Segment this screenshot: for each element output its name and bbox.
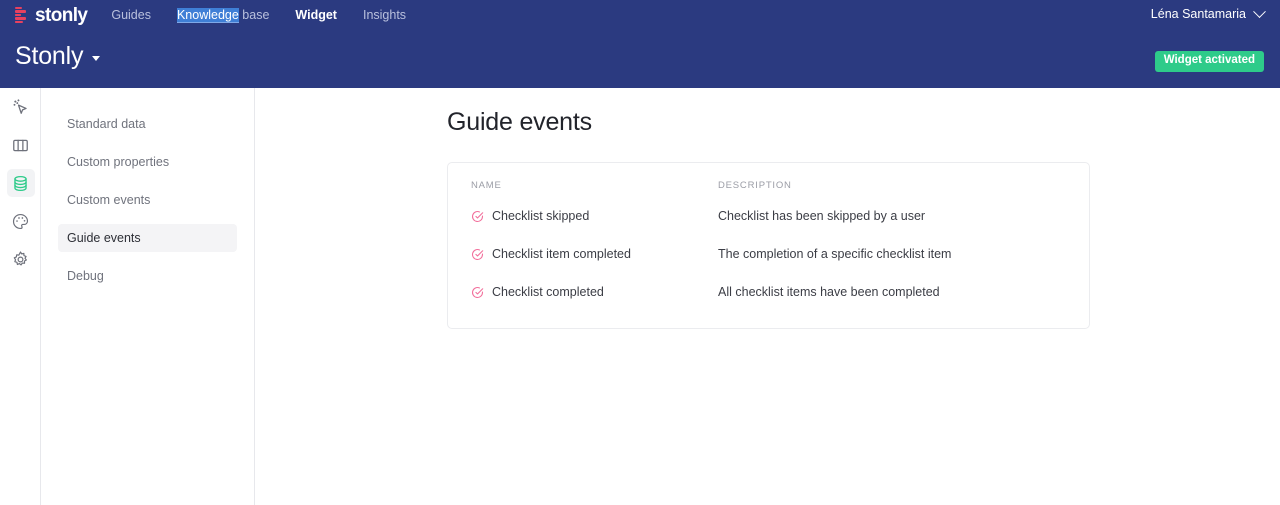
page-title: Guide events	[447, 110, 592, 135]
event-name: Checklist completed	[492, 285, 604, 299]
event-description: All checklist items have been completed	[718, 273, 1089, 311]
event-description: The completion of a specific checklist i…	[718, 235, 1089, 273]
table-row[interactable]: Checklist item completed The completion …	[448, 235, 1089, 273]
stonly-stack-icon	[15, 7, 30, 24]
sidebar-item-standard-data[interactable]: Standard data	[58, 110, 237, 138]
table-row[interactable]: Checklist completed All checklist items …	[448, 273, 1089, 311]
check-circle-icon	[471, 286, 484, 299]
user-name: Léna Santamaria	[1151, 8, 1246, 21]
sidebar-item-custom-events[interactable]: Custom events	[58, 186, 237, 214]
main-content: Guide events NAME DESCRIPTION	[256, 88, 1280, 505]
event-name: Checklist skipped	[492, 209, 589, 223]
nav-link-knowledge-base[interactable]: Knowledge base	[177, 9, 269, 22]
rail-item-database[interactable]	[0, 164, 41, 202]
nav-link-knowledge-rest-text: base	[239, 8, 270, 22]
user-menu[interactable]: Léna Santamaria	[1151, 8, 1264, 21]
chevron-down-icon	[1253, 5, 1266, 18]
nav-link-knowledge-selected-text: Knowledge	[177, 8, 239, 23]
rail-item-cursor-click[interactable]	[0, 88, 41, 126]
table-header-row: NAME DESCRIPTION	[448, 163, 1089, 197]
guide-events-table: NAME DESCRIPTION Checklist skipped	[448, 163, 1089, 311]
cursor-click-icon	[11, 98, 30, 117]
rail-item-settings[interactable]	[0, 240, 41, 278]
stonly-logo[interactable]: stonly	[15, 6, 87, 25]
event-name: Checklist item completed	[492, 247, 631, 261]
secondary-sidebar: Standard data Custom properties Custom e…	[41, 88, 255, 505]
table-body: Checklist skipped Checklist has been ski…	[448, 197, 1089, 311]
rail-item-layout[interactable]	[0, 126, 41, 164]
nav-links: Guides Knowledge base Widget Insights	[111, 9, 406, 22]
sidebar-item-guide-events[interactable]: Guide events	[58, 224, 237, 252]
event-description: Checklist has been skipped by a user	[718, 197, 1089, 235]
table-row[interactable]: Checklist skipped Checklist has been ski…	[448, 197, 1089, 235]
caret-down-icon	[92, 56, 100, 61]
nav-link-widget[interactable]: Widget	[295, 9, 337, 22]
rail-item-palette[interactable]	[0, 202, 41, 240]
top-navigation: stonly Guides Knowledge base Widget Insi…	[0, 0, 1280, 30]
database-icon	[11, 174, 30, 193]
column-header-name: NAME	[448, 163, 718, 197]
top-header: stonly Guides Knowledge base Widget Insi…	[0, 0, 1280, 88]
sidebar-item-debug[interactable]: Debug	[58, 262, 237, 290]
table-header: NAME DESCRIPTION	[448, 163, 1089, 197]
nav-link-guides[interactable]: Guides	[111, 9, 151, 22]
check-circle-icon	[471, 210, 484, 223]
guide-events-card: NAME DESCRIPTION Checklist skipped	[447, 162, 1090, 329]
status-badge: Widget activated	[1155, 51, 1264, 72]
columns-layout-icon	[11, 136, 30, 155]
workspace-title: Stonly	[15, 44, 83, 69]
workspace-selector[interactable]: Stonly	[15, 44, 100, 69]
sidebar-item-custom-properties[interactable]: Custom properties	[58, 148, 237, 176]
gear-icon	[11, 250, 30, 269]
nav-link-insights[interactable]: Insights	[363, 9, 406, 22]
column-header-description: DESCRIPTION	[718, 163, 1089, 197]
icon-rail	[0, 88, 41, 505]
logo-text: stonly	[35, 6, 87, 25]
check-circle-icon	[471, 248, 484, 261]
palette-icon	[11, 212, 30, 231]
